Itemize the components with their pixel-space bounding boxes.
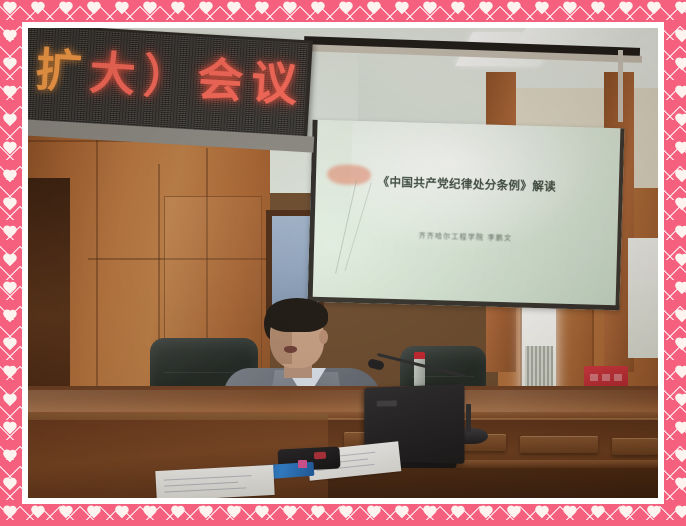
heart-icon (674, 338, 686, 352)
heart-icon (338, 506, 353, 520)
heart-icon (226, 506, 241, 520)
laptop-logo (377, 400, 397, 406)
led-rest-text: 大）会议 (88, 45, 307, 112)
heart-icon (2, 478, 17, 492)
heart-icon (674, 86, 686, 100)
heart-icon (114, 506, 129, 520)
heart-icon (394, 506, 409, 520)
heart-icon (2, 198, 17, 212)
hair (266, 298, 328, 332)
heart-icon (30, 506, 45, 520)
heart-icon (2, 310, 17, 324)
heart-icon (2, 422, 17, 436)
heart-icon (2, 366, 17, 380)
heart-icon (646, 2, 661, 16)
heart-icon (674, 478, 686, 492)
heart-icon (450, 2, 465, 16)
heart-icon (58, 506, 73, 520)
heart-icon (674, 282, 686, 296)
microphone-stem (466, 404, 471, 432)
heart-icon (618, 506, 633, 520)
heart-icon (2, 254, 17, 268)
heart-icon (506, 2, 521, 16)
heart-icon (674, 506, 686, 520)
framed-photo: 《中国共产党纪律处分条例》解读 齐齐哈尔工程学院 李鹏文 扩大）会议 (0, 0, 686, 526)
bottle-cap (414, 352, 425, 359)
paper-line (164, 475, 252, 481)
basket-slot (614, 374, 622, 381)
heart-icon (2, 394, 17, 408)
heart-icon (450, 506, 465, 520)
heart-icon (674, 226, 686, 240)
heart-icon (2, 114, 17, 128)
heart-icon (170, 2, 185, 16)
heart-icon (2, 2, 17, 16)
heart-icon (198, 2, 213, 16)
heart-icon (282, 2, 297, 16)
screen-side-drop (618, 50, 623, 122)
heart-icon (2, 338, 17, 352)
heart-icon (674, 422, 686, 436)
heart-icon (534, 506, 549, 520)
heart-icon (282, 506, 297, 520)
ear (319, 330, 328, 344)
heart-icon (422, 506, 437, 520)
left-dark-doorway (28, 178, 70, 408)
heart-icon (366, 506, 381, 520)
heart-icon (674, 30, 686, 44)
pouch-red-detail (314, 452, 326, 460)
heart-icon (2, 450, 17, 464)
heart-icon (478, 2, 493, 16)
heart-icon (226, 2, 241, 16)
heart-icon (618, 2, 633, 16)
heart-icon (254, 506, 269, 520)
heart-icon (674, 450, 686, 464)
heart-icon (674, 310, 686, 324)
heart-icon (562, 506, 577, 520)
heart-icon (562, 2, 577, 16)
pink-tag (298, 460, 307, 468)
mouth (284, 346, 297, 353)
heart-icon (506, 506, 521, 520)
heart-icon (2, 30, 17, 44)
right-window (628, 238, 658, 358)
heart-icon (2, 58, 17, 72)
paper-line (164, 487, 246, 492)
heart-icon (310, 2, 325, 16)
heart-icon (114, 2, 129, 16)
heart-icon (2, 226, 17, 240)
heart-icon (254, 2, 269, 16)
heart-icon (394, 2, 409, 16)
heart-icon (646, 506, 661, 520)
meeting-photograph: 《中国共产党纪律处分条例》解读 齐齐哈尔工程学院 李鹏文 扩大）会议 (28, 28, 658, 498)
led-sign-text: 扩大）会议 (34, 33, 307, 115)
heart-icon (422, 2, 437, 16)
heart-icon (674, 142, 686, 156)
heart-icon (366, 2, 381, 16)
heart-icon (170, 506, 185, 520)
desk-trim (612, 438, 658, 455)
heart-icon (478, 506, 493, 520)
heart-icon (86, 2, 101, 16)
heart-icon (674, 170, 686, 184)
heart-icon (310, 506, 325, 520)
heart-icon (30, 2, 45, 16)
projection-screen: 《中国共产党纪律处分条例》解读 齐齐哈尔工程学院 李鹏文 (308, 120, 625, 311)
heart-icon (2, 142, 17, 156)
heart-icon (674, 366, 686, 380)
heart-icon (142, 506, 157, 520)
heart-icon (674, 254, 686, 268)
heart-icon (86, 506, 101, 520)
desk-reflection (28, 390, 658, 412)
heart-icon (590, 506, 605, 520)
heart-icon (338, 2, 353, 16)
led-first-char: 扩 (34, 42, 91, 99)
heart-icon (142, 2, 157, 16)
heart-icon (2, 282, 17, 296)
heart-icon (198, 506, 213, 520)
basket-slot (602, 374, 610, 381)
heart-icon (2, 506, 17, 520)
heart-icon (590, 2, 605, 16)
heart-icon (58, 2, 73, 16)
basket-slot (590, 374, 598, 381)
heart-icon (674, 114, 686, 128)
heart-icon (2, 170, 17, 184)
heart-icon (674, 198, 686, 212)
heart-icon (534, 2, 549, 16)
heart-icon (674, 58, 686, 72)
desk-trim (520, 436, 598, 453)
heart-icon (674, 2, 686, 16)
heart-icon (2, 86, 17, 100)
documents-front (155, 465, 274, 498)
heart-icon (674, 394, 686, 408)
paper-line (164, 482, 238, 487)
